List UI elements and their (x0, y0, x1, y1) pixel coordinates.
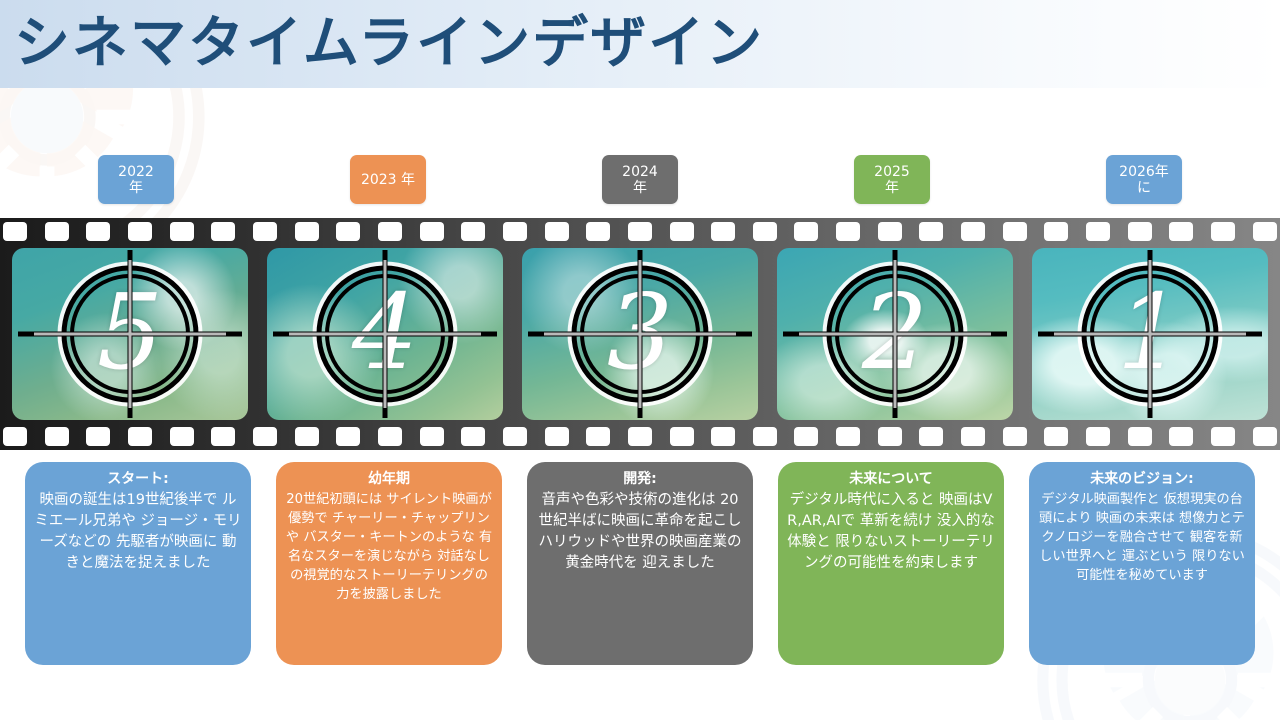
card-body: デジタル映画製作と 仮想現実の台頭により 映画の未来は 想像力とテクノロジーを融… (1037, 490, 1247, 585)
sprocket-hole (794, 427, 818, 446)
card-body: 映画の誕生は19世紀後半で ルミエール兄弟や ジョージ・モリーズなどの 先駆者が… (33, 490, 243, 574)
sprocket-hole (336, 427, 360, 446)
sprocket-hole (628, 222, 652, 241)
sprocket-hole (961, 427, 985, 446)
year-badge-line-primary: 2022 (118, 164, 154, 180)
film-frame-5: 5 (12, 248, 248, 420)
sprocket-hole (128, 427, 152, 446)
sprocket-hole (211, 222, 235, 241)
film-frame-1: 1 (1032, 248, 1268, 420)
sprocket-hole (420, 427, 444, 446)
sprocket-hole (170, 222, 194, 241)
card-body: デジタル時代に入ると 映画はVR,AR,AIで 革新を続け 没入的な体験と 限り… (786, 490, 996, 574)
sprocket-hole (86, 222, 110, 241)
year-badge-row: 2022年2023 年2024年2025年2026年に (0, 155, 1280, 205)
card-start[interactable]: スタート:映画の誕生は19世紀後半で ルミエール兄弟や ジョージ・モリーズなどの… (25, 462, 251, 665)
card-development[interactable]: 開発:音声や色彩や技術の進化は 20世紀半ばに映画に革命を起こし ハリウッドや世… (527, 462, 753, 665)
film-frame-3: 3 (522, 248, 758, 420)
sprocket-hole (1044, 427, 1068, 446)
film-frame-row: 54321 (0, 248, 1280, 420)
sprocket-hole (503, 222, 527, 241)
sprocket-hole (753, 427, 777, 446)
sprocket-hole (3, 222, 27, 241)
year-badge-line-primary: 2025 (874, 164, 910, 180)
sprocket-hole (753, 222, 777, 241)
sprocket-hole (1169, 222, 1193, 241)
title-banner: シネマタイムラインデザイン (0, 0, 1280, 88)
year-badge-line-secondary: 年 (633, 180, 647, 196)
sprocket-hole (461, 427, 485, 446)
sprocket-hole (545, 222, 569, 241)
sprocket-hole (295, 222, 319, 241)
card-heading: 未来について (786, 469, 996, 489)
sprocket-hole (586, 427, 610, 446)
year-badge-line-secondary: に (1137, 180, 1151, 196)
sprocket-hole (1128, 222, 1152, 241)
year-badge-2025[interactable]: 2025年 (854, 155, 930, 204)
sprocket-hole (711, 427, 735, 446)
year-badge-line-secondary: 年 (129, 180, 143, 196)
sprocket-hole (919, 427, 943, 446)
year-badge-line-primary: 2023 年 (361, 172, 415, 188)
card-future[interactable]: 未来についてデジタル時代に入ると 映画はVR,AR,AIで 革新を続け 没入的な… (778, 462, 1004, 665)
sprocket-hole (378, 427, 402, 446)
sprocket-hole (878, 222, 902, 241)
sprocket-hole (878, 427, 902, 446)
sprocket-hole (1253, 427, 1277, 446)
year-badge-2022[interactable]: 2022年 (98, 155, 174, 204)
sprocket-row-bottom (0, 427, 1280, 446)
film-frame-2: 2 (777, 248, 1013, 420)
sprocket-hole (211, 427, 235, 446)
sprocket-hole (128, 222, 152, 241)
card-heading: 幼年期 (284, 469, 494, 489)
sprocket-hole (628, 427, 652, 446)
card-heading: 未来のビジョン: (1037, 469, 1247, 489)
sprocket-hole (45, 427, 69, 446)
sprocket-hole (836, 427, 860, 446)
sprocket-hole (295, 427, 319, 446)
year-badge-2026[interactable]: 2026年に (1106, 155, 1182, 204)
sprocket-hole (1044, 222, 1068, 241)
sprocket-hole (1086, 222, 1110, 241)
page-title: シネマタイムラインデザイン (14, 6, 764, 82)
sprocket-row-top (0, 222, 1280, 241)
countdown-leader-icon (12, 248, 248, 420)
card-body: 音声や色彩や技術の進化は 20世紀半ばに映画に革命を起こし ハリウッドや世界の映… (535, 490, 745, 574)
sprocket-hole (45, 222, 69, 241)
card-heading: 開発: (535, 469, 745, 489)
sprocket-hole (170, 427, 194, 446)
sprocket-hole (711, 222, 735, 241)
sprocket-hole (670, 427, 694, 446)
film-frame-4: 4 (267, 248, 503, 420)
sprocket-hole (1169, 427, 1193, 446)
year-badge-line-primary: 2026年 (1119, 164, 1169, 180)
sprocket-hole (1003, 427, 1027, 446)
sprocket-hole (1086, 427, 1110, 446)
year-badge-line-secondary: 年 (885, 180, 899, 196)
year-badge-2023[interactable]: 2023 年 (350, 155, 426, 204)
description-card-row: スタート:映画の誕生は19世紀後半で ルミエール兄弟や ジョージ・モリーズなどの… (0, 462, 1280, 667)
year-badge-line-primary: 2024 (622, 164, 658, 180)
sprocket-hole (3, 427, 27, 446)
countdown-leader-icon (522, 248, 758, 420)
sprocket-hole (586, 222, 610, 241)
sprocket-hole (420, 222, 444, 241)
sprocket-hole (1253, 222, 1277, 241)
sprocket-hole (919, 222, 943, 241)
film-strip: 54321 (0, 218, 1280, 450)
sprocket-hole (253, 222, 277, 241)
card-body: 20世紀初頭には サイレント映画が優勢で チャーリー・チャップリンや バスター・… (284, 490, 494, 604)
sprocket-hole (503, 427, 527, 446)
sprocket-hole (836, 222, 860, 241)
slide-canvas: シネマタイムラインデザイン 2022年2023 年2024年2025年2026年… (0, 0, 1280, 720)
sprocket-hole (378, 222, 402, 241)
countdown-leader-icon (1032, 248, 1268, 420)
sprocket-hole (670, 222, 694, 241)
sprocket-hole (545, 427, 569, 446)
countdown-leader-icon (267, 248, 503, 420)
sprocket-hole (1003, 222, 1027, 241)
card-future-vision[interactable]: 未来のビジョン:デジタル映画製作と 仮想現実の台頭により 映画の未来は 想像力と… (1029, 462, 1255, 665)
sprocket-hole (961, 222, 985, 241)
sprocket-hole (1128, 427, 1152, 446)
year-badge-2024[interactable]: 2024年 (602, 155, 678, 204)
sprocket-hole (336, 222, 360, 241)
card-childhood[interactable]: 幼年期20世紀初頭には サイレント映画が優勢で チャーリー・チャップリンや バス… (276, 462, 502, 665)
sprocket-hole (86, 427, 110, 446)
sprocket-hole (1211, 222, 1235, 241)
sprocket-hole (1211, 427, 1235, 446)
sprocket-hole (794, 222, 818, 241)
sprocket-hole (461, 222, 485, 241)
countdown-leader-icon (777, 248, 1013, 420)
card-heading: スタート: (33, 469, 243, 489)
sprocket-hole (253, 427, 277, 446)
